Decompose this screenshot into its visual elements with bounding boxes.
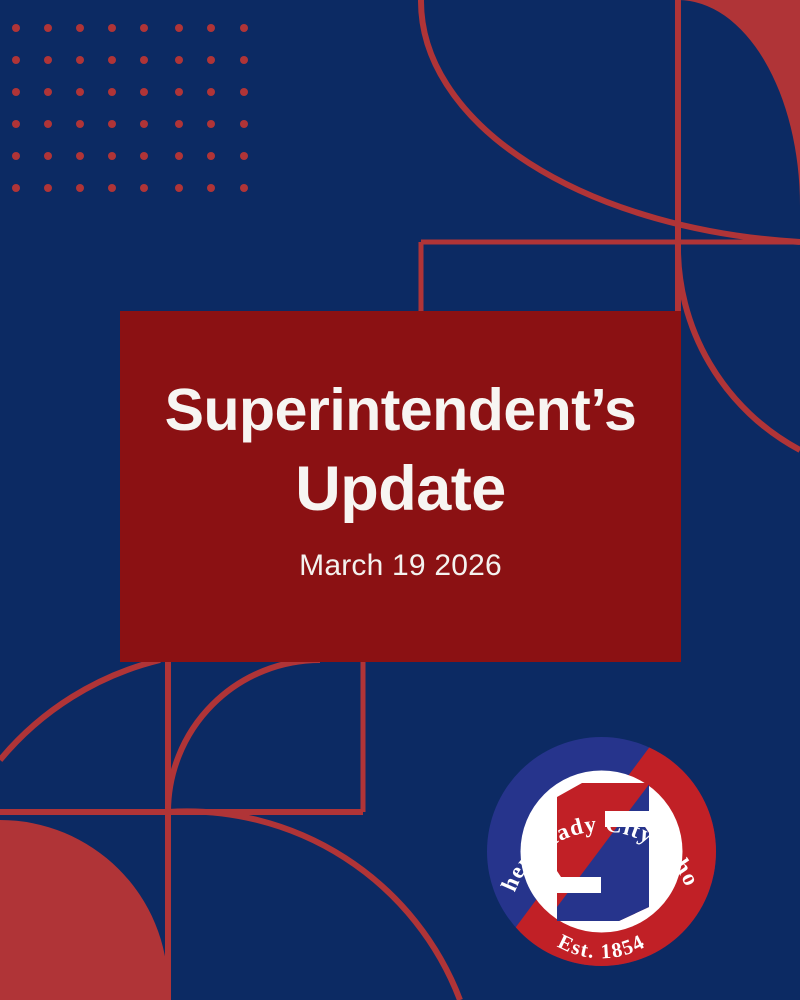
district-logo: Schenectady City Schools Est. 1854: [487, 737, 716, 966]
headline-card: Superintendent’s Update March 19 2026: [120, 311, 681, 662]
district-logo-svg: Schenectady City Schools Est. 1854: [487, 737, 716, 966]
poster-canvas: Superintendent’s Update March 19 2026: [0, 0, 800, 1000]
page-title-line-2: Update: [295, 456, 506, 523]
headline-date: March 19 2026: [299, 549, 502, 582]
page-title-line-1: Superintendent’s: [165, 379, 637, 442]
